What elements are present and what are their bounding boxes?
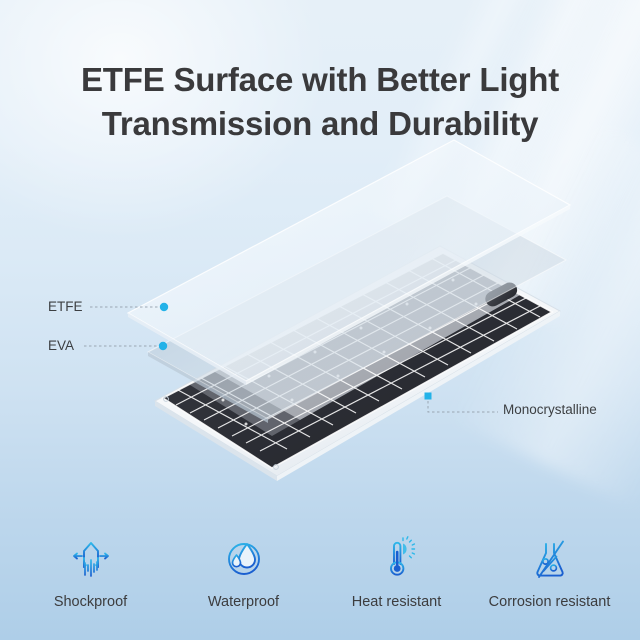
light-streak [389,0,640,323]
callout-label-etfe: ETFE [48,299,83,314]
eva-layer [148,196,566,423]
junction-box [483,280,520,309]
light-streak [448,121,640,510]
waterproof-icon [219,532,269,586]
panel-frame [155,246,560,481]
callout-dot-icon [425,393,432,400]
light-streak [431,0,640,331]
frame-corner-screws [164,397,279,470]
feature-corrosion-resistant: Corrosion resistant [475,532,625,610]
etfe-layer [128,140,570,385]
feature-label: Heat resistant [352,594,441,610]
product-infographic: ETFE Surface with Better Light Transmiss… [0,0,640,640]
corrosion-resistant-icon [525,532,575,586]
callout-label-monocrystalline: Monocrystalline [503,402,597,417]
feature-label: Waterproof [208,594,279,610]
feature-label: Corrosion resistant [489,594,611,610]
callout-dot-icon [159,342,167,350]
callout-leaders [84,307,498,412]
callout-dots [159,303,432,400]
feature-heat-resistant: Heat resistant [322,532,472,610]
feature-shockproof: Shockproof [16,532,166,610]
monocrystalline-cell-array [134,238,552,468]
feature-waterproof: Waterproof [169,532,319,610]
headline: ETFE Surface with Better Light Transmiss… [0,58,640,146]
heat-resistant-icon [372,532,422,586]
callout-dot-icon [160,303,168,311]
callout-label-eva: EVA [48,338,74,353]
feature-label: Shockproof [54,594,127,610]
feature-row: Shockproof Waterproof [0,532,640,610]
shockproof-icon [66,532,116,586]
